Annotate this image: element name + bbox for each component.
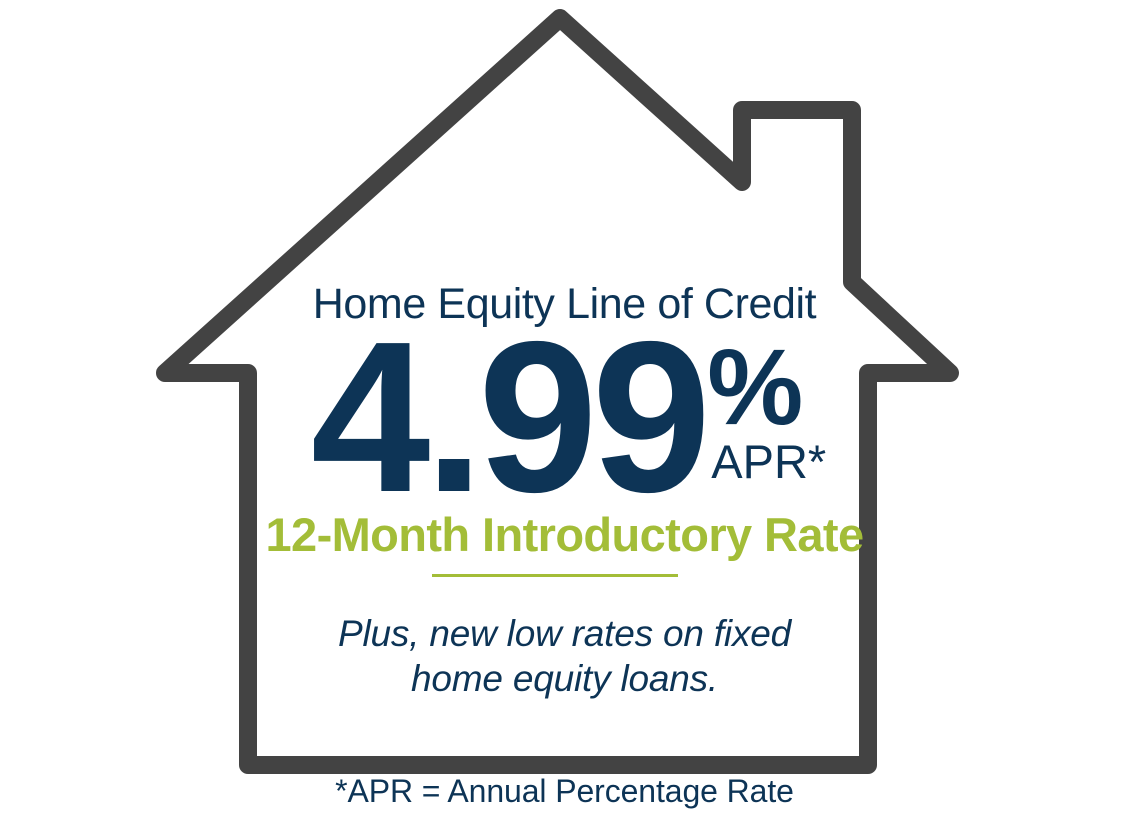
body-copy-line-1: Plus, new low rates on fixed	[0, 611, 1129, 656]
promo-content: Home Equity Line of Credit 4.99 % APR* 1…	[0, 0, 1129, 827]
apr-label: APR*	[711, 438, 826, 485]
divider-rule	[432, 574, 678, 577]
rate-value: 4.99	[311, 333, 705, 501]
body-copy: Plus, new low rates on fixed home equity…	[0, 611, 1129, 701]
footnote-text: *APR = Annual Percentage Rate	[0, 775, 1129, 807]
intro-rate-subtitle: 12-Month Introductory Rate	[0, 510, 1129, 561]
rate-suffix-group: % APR*	[707, 337, 826, 485]
promo-graphic-canvas: Home Equity Line of Credit 4.99 % APR* 1…	[0, 0, 1129, 827]
body-copy-line-2: home equity loans.	[0, 656, 1129, 701]
rate-display: 4.99 % APR*	[0, 333, 1129, 501]
percent-symbol: %	[707, 337, 801, 436]
